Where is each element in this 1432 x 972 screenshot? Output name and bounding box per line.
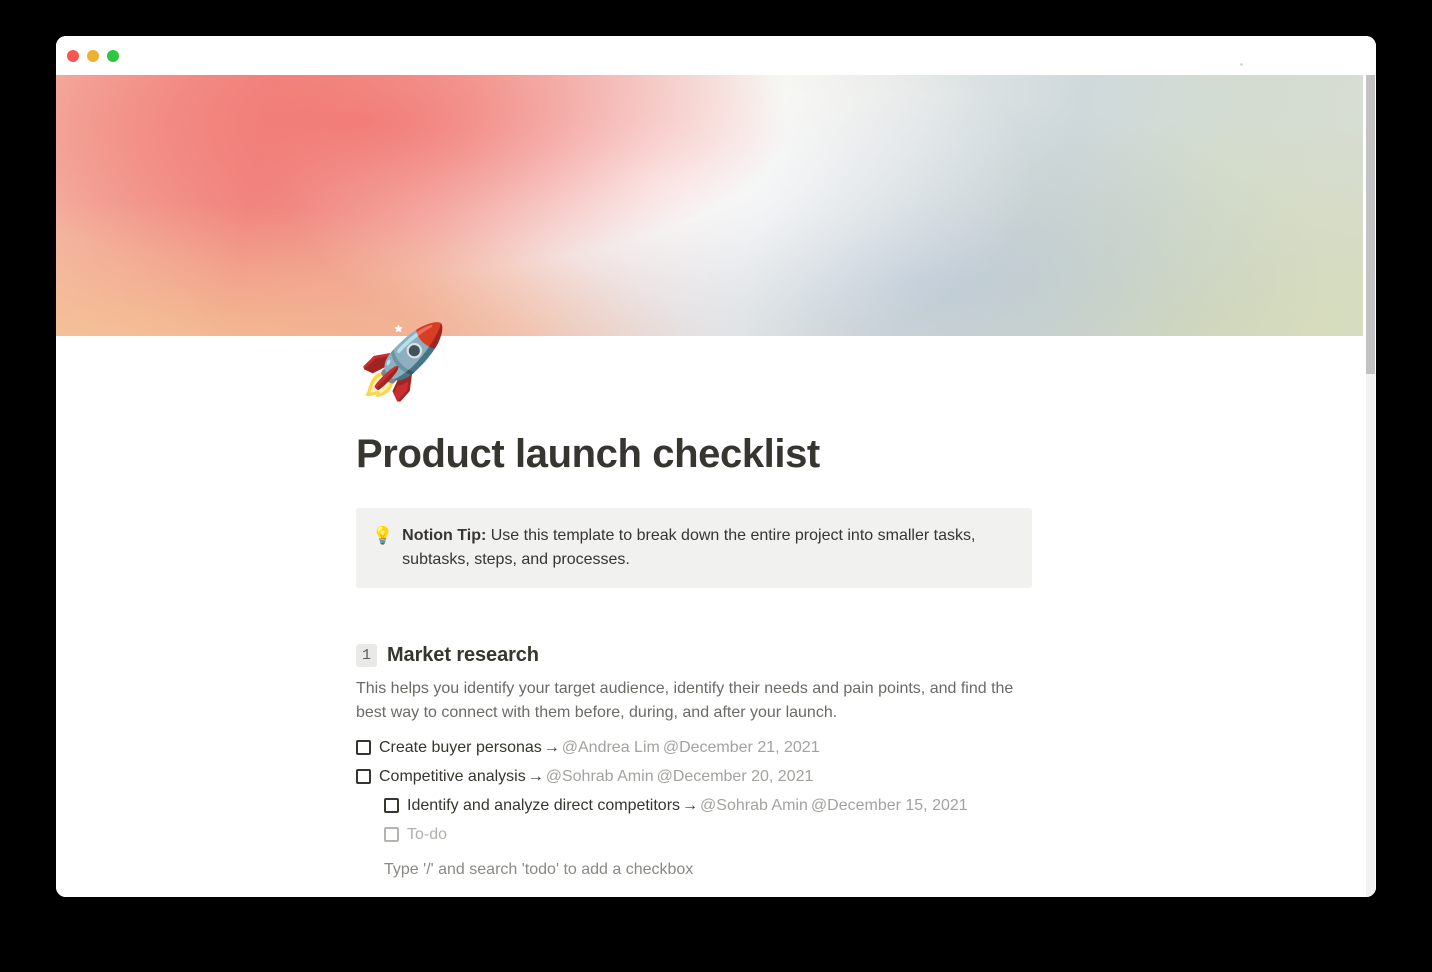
titlebar-dot-icon xyxy=(1240,63,1243,66)
document-scroll-area[interactable]: 🚀 Product launch checklist 💡 Notion Tip:… xyxy=(56,75,1376,897)
checkbox-icon[interactable] xyxy=(356,740,371,755)
callout-body-text: Use this template to break down the enti… xyxy=(402,527,975,568)
screen: 🚀 Product launch checklist 💡 Notion Tip:… xyxy=(0,0,1432,972)
vertical-scrollbar-track[interactable] xyxy=(1363,75,1376,897)
page-body: Product launch checklist 💡 Notion Tip: U… xyxy=(56,336,1363,897)
checkbox-icon[interactable] xyxy=(356,769,371,784)
page-icon-rocket-emoji[interactable]: 🚀 xyxy=(358,325,448,397)
todo-mention-person[interactable]: @Sohrab Amin xyxy=(546,768,654,785)
todo-item[interactable]: Competitive analysis→@Sohrab Amin@Decemb… xyxy=(356,762,1068,791)
checkbox-icon[interactable] xyxy=(384,827,399,842)
todo-row-content: Create buyer personas→@Andrea Lim@Decemb… xyxy=(379,736,820,759)
todo-hint-text: Type '/' and search 'todo' to add a chec… xyxy=(384,858,1068,881)
section-title[interactable]: Market research xyxy=(387,644,539,667)
todo-item[interactable]: Create buyer personas→@Andrea Lim@Decemb… xyxy=(356,733,1068,762)
todo-item-nested[interactable]: Identify and analyze direct competitors→… xyxy=(384,791,1068,820)
todo-label: Competitive analysis xyxy=(379,768,526,785)
callout-bold-lead: Notion Tip: xyxy=(402,527,486,544)
todo-mention-person[interactable]: @Andrea Lim xyxy=(562,739,660,756)
lightbulb-icon: 💡 xyxy=(372,524,393,548)
vertical-scrollbar-track-lower[interactable] xyxy=(1366,374,1375,897)
close-window-button[interactable] xyxy=(67,50,79,62)
section-number-badge: 1 xyxy=(356,644,377,667)
traffic-lights xyxy=(67,50,119,62)
section-heading: 1 Market research xyxy=(356,644,1068,667)
todo-item-empty[interactable]: To-do xyxy=(384,820,1068,849)
todo-mention-date[interactable]: @December 20, 2021 xyxy=(657,768,814,785)
section-description[interactable]: This helps you identify your target audi… xyxy=(356,677,1040,725)
todo-row-content: Competitive analysis→@Sohrab Amin@Decemb… xyxy=(379,765,813,788)
todo-label: Create buyer personas xyxy=(379,739,542,756)
arrow-icon: → xyxy=(680,797,700,814)
app-window: 🚀 Product launch checklist 💡 Notion Tip:… xyxy=(56,36,1376,897)
notion-tip-callout[interactable]: 💡 Notion Tip: Use this template to break… xyxy=(356,508,1032,588)
minimize-window-button[interactable] xyxy=(87,50,99,62)
todo-row-content: Identify and analyze direct competitors→… xyxy=(407,794,968,817)
page-title[interactable]: Product launch checklist xyxy=(356,336,1068,478)
todo-list: Create buyer personas→@Andrea Lim@Decemb… xyxy=(356,733,1068,849)
section-market-research: 1 Market research This helps you identif… xyxy=(356,644,1068,897)
arrow-icon: → xyxy=(526,768,546,785)
todo-placeholder-label: To-do xyxy=(407,823,447,846)
todo-mention-date[interactable]: @December 15, 2021 xyxy=(811,797,968,814)
vertical-scrollbar-thumb[interactable] xyxy=(1366,75,1375,374)
page-cover-image[interactable] xyxy=(56,75,1363,336)
checkbox-icon[interactable] xyxy=(384,798,399,813)
window-titlebar xyxy=(56,36,1376,75)
arrow-icon: → xyxy=(542,739,562,756)
callout-text: Notion Tip: Use this template to break d… xyxy=(402,524,1016,572)
todo-mention-person[interactable]: @Sohrab Amin xyxy=(700,797,808,814)
todo-label: Identify and analyze direct competitors xyxy=(407,797,680,814)
todo-mention-date[interactable]: @December 21, 2021 xyxy=(663,739,820,756)
content-column: Product launch checklist 💡 Notion Tip: U… xyxy=(356,336,1068,897)
maximize-window-button[interactable] xyxy=(107,50,119,62)
